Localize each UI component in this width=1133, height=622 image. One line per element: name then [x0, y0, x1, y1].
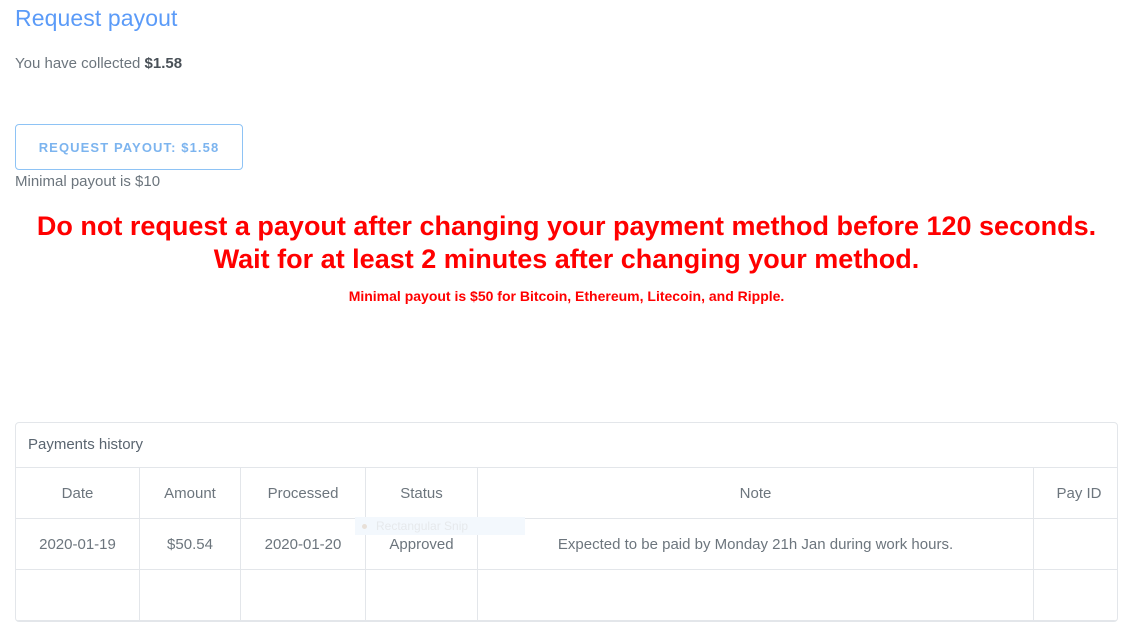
cell-date — [16, 570, 140, 621]
cell-amount: $50.54 — [140, 519, 241, 570]
column-header-amount: Amount — [140, 468, 241, 519]
payments-history-title: Payments history — [16, 423, 1117, 468]
cell-pay-id — [1034, 570, 1119, 621]
table-header-row: Date Amount Processed Status Note Pay ID — [16, 468, 1118, 519]
cell-note — [478, 570, 1034, 621]
page-title: Request payout — [15, 3, 178, 33]
minimal-payout-note: Minimal payout is $10 — [15, 172, 160, 192]
cell-status — [366, 570, 478, 621]
column-header-pay-id: Pay ID — [1034, 468, 1119, 519]
cell-note: Expected to be paid by Monday 21h Jan du… — [478, 519, 1034, 570]
cell-amount — [140, 570, 241, 621]
payments-history-table: Date Amount Processed Status Note Pay ID… — [16, 468, 1118, 621]
payments-history-card: Payments history Date Amount Processed S… — [15, 422, 1118, 622]
collected-balance-line: You have collected $1.58 — [15, 54, 182, 74]
column-header-status: Status — [366, 468, 478, 519]
cell-processed — [241, 570, 366, 621]
request-payout-button[interactable]: REQUEST PAYOUT: $1.58 — [15, 124, 243, 170]
payout-warning-sub: Minimal payout is $50 for Bitcoin, Ether… — [14, 287, 1119, 305]
collected-prefix: You have collected — [15, 55, 145, 72]
cell-status: Approved — [366, 519, 478, 570]
column-header-date: Date — [16, 468, 140, 519]
collected-amount: $1.58 — [145, 55, 183, 72]
cell-pay-id — [1034, 519, 1119, 570]
column-header-processed: Processed — [241, 468, 366, 519]
table-row[interactable]: 2020-01-19 $50.54 2020-01-20 Approved Ex… — [16, 519, 1118, 570]
cell-processed: 2020-01-20 — [241, 519, 366, 570]
table-row[interactable] — [16, 570, 1118, 621]
payout-warning-main: Do not request a payout after changing y… — [14, 210, 1119, 276]
cell-date: 2020-01-19 — [16, 519, 140, 570]
column-header-note: Note — [478, 468, 1034, 519]
